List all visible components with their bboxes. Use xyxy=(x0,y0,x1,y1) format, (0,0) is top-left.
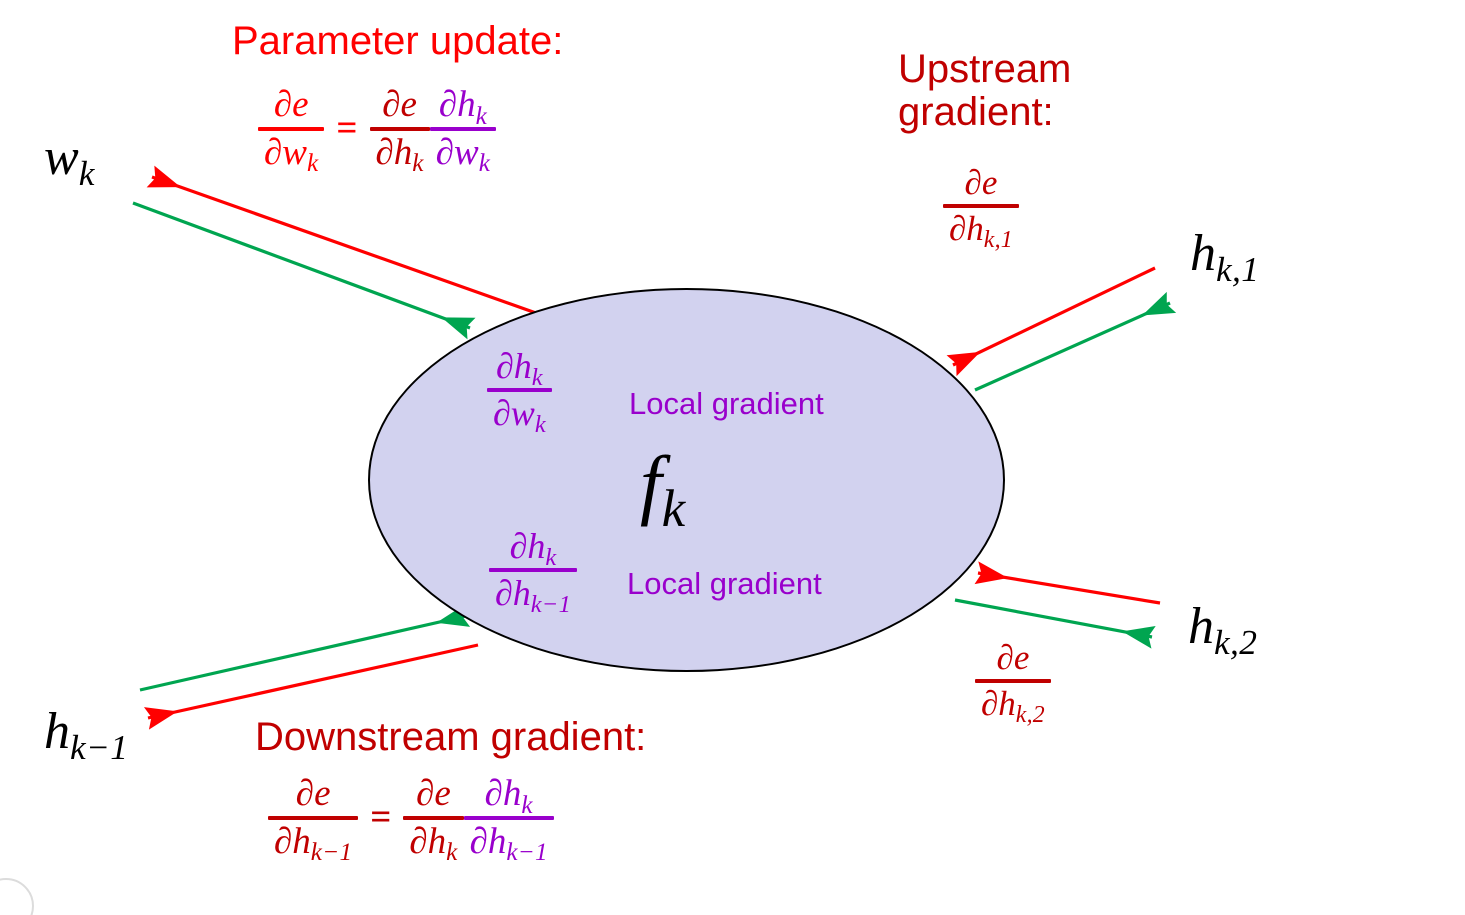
frac-numerator: ∂e xyxy=(376,86,423,124)
fraction-bar xyxy=(975,679,1051,683)
terminal-input-label: hk−1 xyxy=(44,706,128,758)
partial-sign: ∂ xyxy=(470,821,488,862)
denominator-var: h xyxy=(488,821,507,862)
denominator-sub: k xyxy=(535,411,546,438)
denominator-sub: k−1 xyxy=(531,591,571,618)
fraction-bar xyxy=(268,816,358,820)
weight-var: w xyxy=(44,129,79,186)
equals-sign: = xyxy=(358,796,403,839)
frac-denominator: ∂hk−1 xyxy=(489,575,577,612)
local-gradient-label-top: Local gradient xyxy=(629,386,824,422)
fraction-bar xyxy=(258,127,324,131)
denominator-var: w xyxy=(282,132,307,173)
function-symbol: fk xyxy=(640,445,686,523)
denominator-var: h xyxy=(966,209,984,248)
partial-sign: ∂ xyxy=(981,684,998,723)
input-var: h xyxy=(44,703,70,760)
numerator-sub: k xyxy=(476,103,487,130)
partial-sign: ∂ xyxy=(510,526,528,566)
parameter-update-equation: ∂e ∂wk = ∂e ∂hk ∂hk ∂wk xyxy=(258,86,496,171)
arrow-backward-weight xyxy=(152,177,536,313)
fraction-bar xyxy=(370,127,430,131)
upstream-heading-line1: Upstream xyxy=(898,48,1071,91)
partial-sign: ∂ xyxy=(485,773,503,814)
denominator-var: h xyxy=(292,821,311,862)
fraction-bar xyxy=(489,568,577,572)
frac-numerator: ∂e xyxy=(268,86,315,124)
numerator-sub: k xyxy=(521,792,532,819)
frac-dhk-dhk1: ∂hk ∂hk−1 xyxy=(489,528,577,611)
fraction-bar xyxy=(943,204,1019,208)
numerator-var: h xyxy=(503,773,522,814)
diagram-canvas: fk ∂hk ∂wk Local gradient ∂hk ∂hk−1 Loca… xyxy=(0,0,1465,915)
frac-numerator: ∂e xyxy=(991,640,1036,676)
frac-numerator: ∂hk xyxy=(433,86,493,124)
frac-dhk-dhk1-rhs: ∂hk ∂hk−1 xyxy=(464,775,554,860)
frac-numerator: ∂hk xyxy=(490,348,549,385)
output2-var: h xyxy=(1188,598,1214,655)
numerator-var: h xyxy=(457,84,476,125)
local-gradient-weight-fraction: ∂hk ∂wk xyxy=(487,348,552,431)
denominator-var: h xyxy=(998,684,1016,723)
partial-sign: ∂ xyxy=(949,209,966,248)
denominator-sub: k,2 xyxy=(1016,702,1045,728)
weight-sub: k xyxy=(79,153,95,193)
denominator-sub: k,1 xyxy=(984,227,1013,253)
arrow-forward-output2 xyxy=(955,600,1152,637)
partial-sign: ∂ xyxy=(493,393,511,433)
function-node-ellipse xyxy=(368,288,1005,672)
denominator-sub: k xyxy=(307,150,318,177)
denominator-sub: k xyxy=(479,150,490,177)
denominator-sub: k xyxy=(446,839,457,866)
frac-de-dhk2: ∂e ∂hk,2 xyxy=(975,640,1051,721)
denominator-sub: k xyxy=(412,150,423,177)
downstream-gradient-heading: Downstream gradient: xyxy=(255,716,646,759)
fraction-bar xyxy=(464,816,554,820)
numerator-var: h xyxy=(527,526,545,566)
arrow-forward-weight xyxy=(133,203,470,328)
frac-numerator: ∂hk xyxy=(479,775,539,813)
upstream-heading-line2: gradient: xyxy=(898,91,1071,134)
arrow-backward-output2 xyxy=(978,573,1160,603)
frac-de-dhk1-lhs: ∂e ∂hk−1 xyxy=(268,775,358,860)
local-gradient-label-bottom: Local gradient xyxy=(627,566,822,602)
corner-arc-artifact xyxy=(0,878,34,915)
terminal-output1-label: hk,1 xyxy=(1190,228,1259,280)
frac-denominator: ∂hk xyxy=(403,823,463,861)
arrow-backward-input xyxy=(148,645,478,718)
frac-denominator: ∂wk xyxy=(430,134,496,172)
partial-sign: ∂ xyxy=(496,346,514,386)
terminal-output2-label: hk,2 xyxy=(1188,601,1257,653)
upstream-gradient-heading: Upstream gradient: xyxy=(898,48,1071,134)
partial-sign: ∂ xyxy=(436,132,454,173)
frac-denominator: ∂wk xyxy=(258,134,324,172)
denominator-sub: k−1 xyxy=(311,839,352,866)
frac-denominator: ∂hk−1 xyxy=(464,823,554,861)
denominator-sub: k−1 xyxy=(506,839,547,866)
denominator-var: w xyxy=(511,393,535,433)
fraction-bar xyxy=(403,816,463,820)
equals-sign: = xyxy=(324,107,369,150)
upstream-gradient-fraction: ∂e ∂hk,1 xyxy=(943,165,1019,246)
partial-sign: ∂ xyxy=(439,84,457,125)
frac-dhk-dwk-rhs: ∂hk ∂wk xyxy=(430,86,496,171)
function-symbol-base: f xyxy=(640,440,662,527)
frac-denominator: ∂hk,2 xyxy=(975,686,1051,722)
partial-sign: ∂ xyxy=(274,821,292,862)
frac-numerator: ∂hk xyxy=(504,528,563,565)
partial-sign: ∂ xyxy=(495,573,513,613)
denominator-var: h xyxy=(428,821,447,862)
denominator-var: w xyxy=(454,132,479,173)
frac-de-dhk-rhs: ∂e ∂hk xyxy=(403,775,463,860)
output1-var: h xyxy=(1190,225,1216,282)
parameter-update-heading: Parameter update: xyxy=(232,20,563,63)
arrow-backward-output1 xyxy=(953,268,1155,365)
frac-numerator: ∂e xyxy=(959,165,1004,201)
output1-sub: k,1 xyxy=(1216,249,1259,289)
frac-dhk-dwk: ∂hk ∂wk xyxy=(487,348,552,431)
frac-de-dwk: ∂e ∂wk xyxy=(258,86,324,171)
frac-denominator: ∂hk xyxy=(370,134,430,172)
numerator-sub: k xyxy=(545,544,556,571)
terminal-weight-label: wk xyxy=(44,132,95,184)
frac-numerator: ∂e xyxy=(410,775,457,813)
arrow-forward-input xyxy=(140,616,466,690)
local-gradient-input-fraction: ∂hk ∂hk−1 xyxy=(489,528,577,611)
output2-sub: k,2 xyxy=(1214,622,1257,662)
partial-sign: ∂ xyxy=(376,132,394,173)
frac-denominator: ∂wk xyxy=(487,395,552,432)
frac-de-dhk1: ∂e ∂hk,1 xyxy=(943,165,1019,246)
output2-gradient-fraction: ∂e ∂hk,2 xyxy=(975,640,1051,721)
frac-numerator: ∂e xyxy=(290,775,337,813)
downstream-gradient-equation: ∂e ∂hk−1 = ∂e ∂hk ∂hk ∂hk−1 xyxy=(268,775,554,860)
denominator-var: h xyxy=(394,132,413,173)
numerator-var: h xyxy=(514,346,532,386)
frac-de-dhk: ∂e ∂hk xyxy=(370,86,430,171)
frac-denominator: ∂hk−1 xyxy=(268,823,358,861)
partial-sign: ∂ xyxy=(409,821,427,862)
input-sub: k−1 xyxy=(70,727,128,767)
frac-denominator: ∂hk,1 xyxy=(943,211,1019,247)
partial-sign: ∂ xyxy=(264,132,282,173)
denominator-var: h xyxy=(513,573,531,613)
function-symbol-subscript: k xyxy=(662,480,686,538)
numerator-sub: k xyxy=(532,364,543,391)
arrow-forward-output1 xyxy=(975,303,1170,390)
